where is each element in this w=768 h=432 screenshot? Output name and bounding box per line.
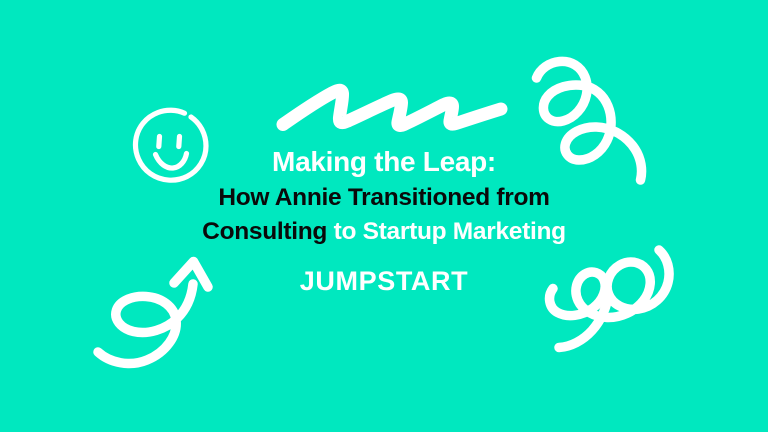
page-title-line-3-rest: to Startup Marketing (327, 218, 566, 245)
page-title-line-3: Consulting to Startup Marketing (0, 215, 768, 249)
page-title-line-1: Making the Leap: (0, 143, 768, 181)
brand-logo: JUMPSTART (0, 266, 768, 297)
zigzag-scribble-icon (276, 76, 508, 132)
title-card: Making the Leap: How Annie Transitioned … (0, 0, 768, 432)
page-title-line-2: How Annie Transitioned from (0, 181, 768, 215)
page-title-highlight: Consulting (202, 218, 327, 245)
headline-block: Making the Leap: How Annie Transitioned … (0, 143, 768, 297)
